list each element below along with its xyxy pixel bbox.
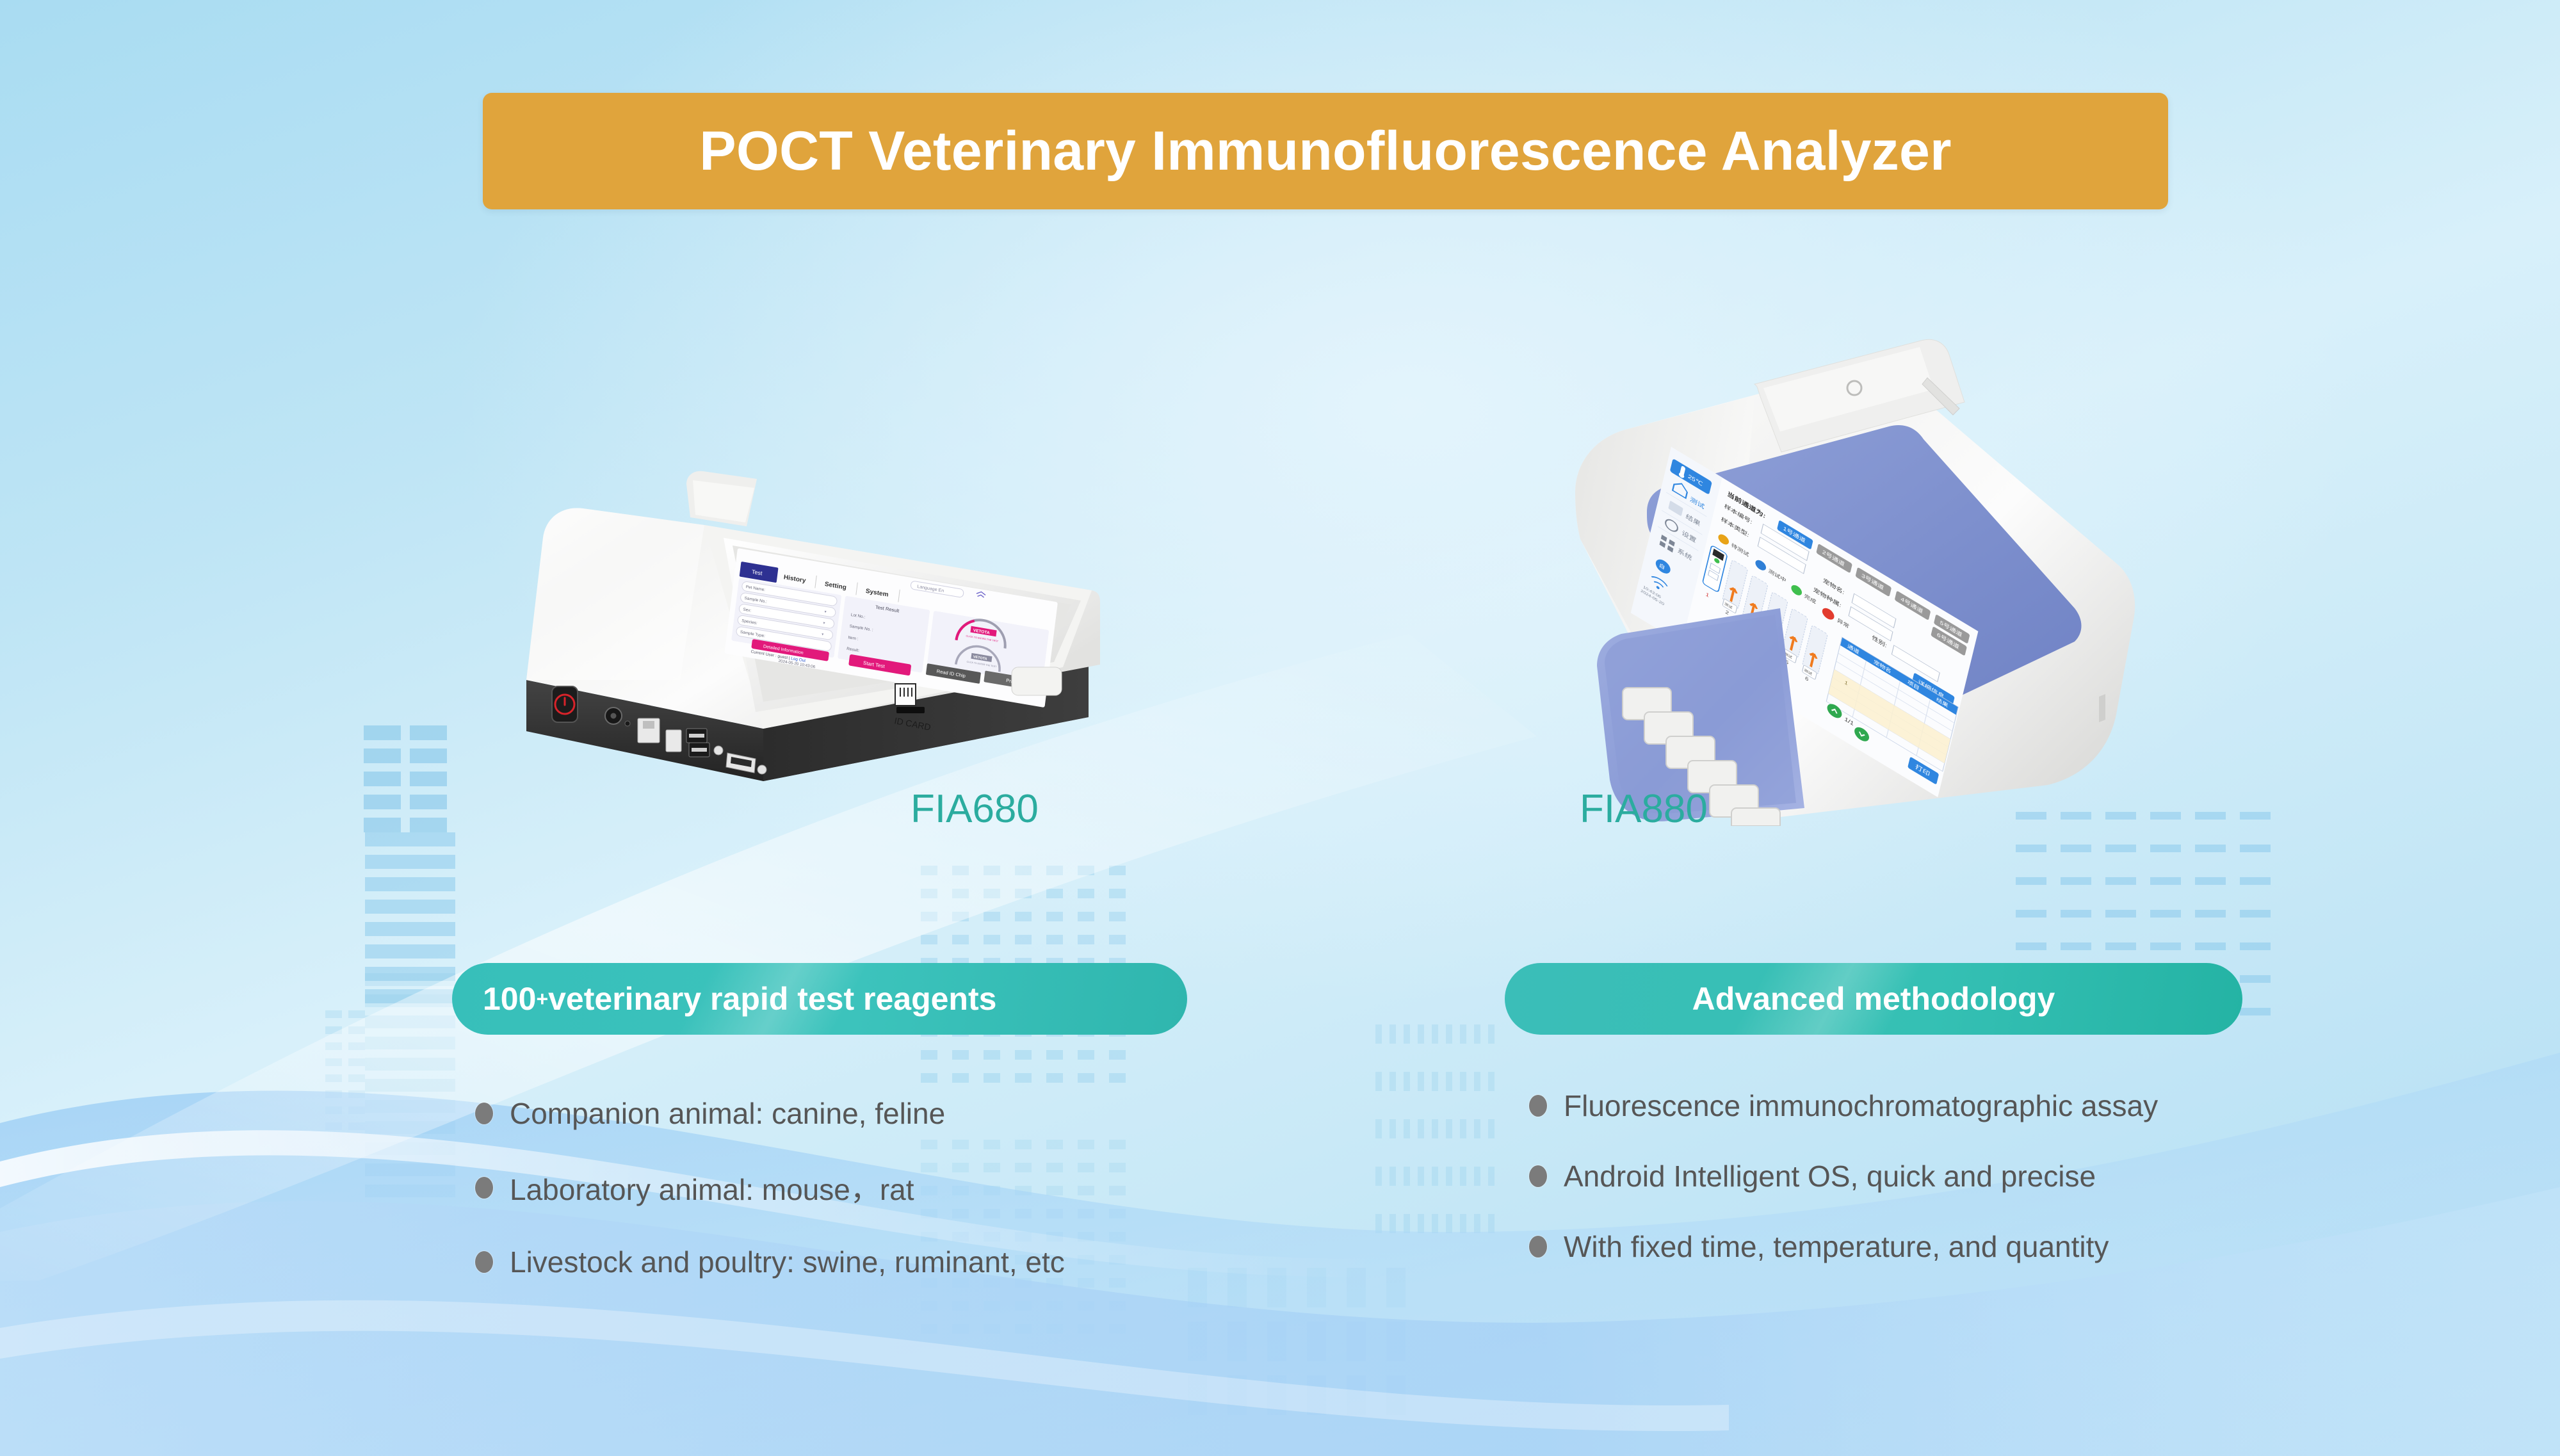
- decor-cell: [365, 855, 455, 869]
- decor-cell: [365, 877, 455, 891]
- decor-row: [365, 900, 455, 914]
- page-title: POCT Veterinary Immunofluorescence Analy…: [699, 120, 1951, 183]
- product-label-fia880: FIA880: [1580, 786, 1708, 832]
- decor-cell: [1046, 912, 1063, 921]
- decor-cell: [364, 795, 401, 809]
- slide-canvas: POCT Veterinary Immunofluorescence Analy…: [0, 0, 2560, 1456]
- decor-cell: [2195, 910, 2226, 918]
- decor-cell: [1015, 912, 1032, 921]
- pill-left-superscript: +: [536, 987, 548, 1011]
- bullet-text: Fluorescence immunochromatographic assay: [1564, 1088, 2158, 1123]
- bullet-dot-icon: [1529, 1095, 1547, 1117]
- decor-row: [364, 795, 447, 809]
- decor-row: [921, 912, 1126, 921]
- bullet-text: Livestock and poultry: swine, ruminant, …: [510, 1245, 1065, 1279]
- decor-cell: [2016, 845, 2046, 852]
- decor-cell: [1046, 889, 1063, 898]
- bullet-text: With fixed time, temperature, and quanti…: [1564, 1229, 2109, 1264]
- decor-cell: [2105, 845, 2136, 852]
- bullet-dot-icon: [1529, 1165, 1547, 1187]
- pill-left-count: 100: [483, 980, 536, 1017]
- decor-cell: [410, 772, 447, 786]
- decor-cell: [2105, 877, 2136, 885]
- decor-row: [921, 889, 1126, 898]
- decor-cell: [1015, 866, 1032, 875]
- decor-cell: [2150, 877, 2181, 885]
- list-item: Laboratory animal: mouse，rat: [475, 1167, 1065, 1209]
- decor-cell: [2240, 877, 2271, 885]
- decor-cell: [1109, 912, 1126, 921]
- list-item: With fixed time, temperature, and quanti…: [1529, 1229, 2158, 1264]
- bullet-list-left: Companion animal: canine, feline Laborat…: [475, 1096, 1065, 1315]
- decor-block-pattern-left-top: [364, 725, 447, 841]
- bullet-text: Companion animal: canine, feline: [510, 1096, 945, 1131]
- decor-row: [364, 725, 447, 740]
- decor-cell: [1109, 889, 1126, 898]
- decor-cell: [921, 889, 937, 898]
- decor-cell: [2150, 910, 2181, 918]
- decor-cell: [2016, 877, 2046, 885]
- decor-cell: [1078, 912, 1094, 921]
- product-label-fia680: FIA680: [911, 786, 1039, 832]
- bullet-dot-icon: [1529, 1236, 1547, 1258]
- bullet-text: Laboratory animal: mouse，rat: [510, 1167, 914, 1209]
- decor-row: [364, 772, 447, 786]
- decor-cell: [2240, 910, 2271, 918]
- decor-cell: [365, 832, 455, 846]
- decor-cell: [2150, 845, 2181, 852]
- bullet-dot-icon: [475, 1251, 493, 1273]
- decor-cell: [984, 889, 1000, 898]
- decor-cell: [2240, 845, 2271, 852]
- decor-cell: [2016, 910, 2046, 918]
- decor-cell: [364, 725, 401, 740]
- decor-cell: [1078, 866, 1094, 875]
- bullet-dot-icon: [475, 1103, 493, 1124]
- decor-cell: [2195, 845, 2226, 852]
- decor-row: [2016, 910, 2271, 918]
- decor-cell: [410, 725, 447, 740]
- decor-cell: [921, 866, 937, 875]
- decor-cell: [952, 889, 969, 898]
- decor-row: [364, 748, 447, 763]
- decor-cell: [2061, 877, 2091, 885]
- decor-cell: [2061, 910, 2091, 918]
- decor-row: [2016, 877, 2271, 885]
- bullet-text: Android Intelligent OS, quick and precis…: [1564, 1159, 2096, 1193]
- decor-row: [365, 877, 455, 891]
- decor-cell: [1109, 866, 1126, 875]
- pill-left-text: veterinary rapid test reagents: [548, 980, 996, 1017]
- decor-cell: [921, 912, 937, 921]
- feature-pill-methodology: Advanced methodology: [1505, 963, 2242, 1035]
- pill-right-text: Advanced methodology: [1692, 980, 2055, 1017]
- bullet-list-right: Fluorescence immunochromatographic assay…: [1529, 1088, 2158, 1300]
- list-item: Livestock and poultry: swine, ruminant, …: [475, 1245, 1065, 1279]
- decor-cell: [1078, 889, 1094, 898]
- decor-cell: [410, 748, 447, 763]
- decor-row: [365, 832, 455, 846]
- decor-cell: [364, 818, 401, 832]
- decor-cell: [364, 772, 401, 786]
- decor-cell: [1046, 866, 1063, 875]
- decor-cell: [984, 912, 1000, 921]
- decor-cell: [365, 900, 455, 914]
- device-fia880-image: 25℃ 测试 结果 设置 系统: [1479, 301, 2171, 826]
- decor-row: [2016, 845, 2271, 852]
- decor-cell: [2195, 877, 2226, 885]
- list-item: Companion animal: canine, feline: [475, 1096, 1065, 1131]
- decor-cell: [364, 748, 401, 763]
- decor-cell: [952, 866, 969, 875]
- decor-row: [365, 855, 455, 869]
- device-fia680-image: Language En Test History Setting System …: [512, 442, 1101, 800]
- list-item: Fluorescence immunochromatographic assay: [1529, 1088, 2158, 1123]
- decor-cell: [2105, 910, 2136, 918]
- bullet-dot-icon: [475, 1177, 493, 1199]
- decor-cell: [952, 912, 969, 921]
- decor-cell: [1015, 889, 1032, 898]
- decor-cell: [2195, 812, 2226, 820]
- decor-cell: [410, 818, 447, 832]
- decor-cell: [410, 795, 447, 809]
- decor-cell: [984, 866, 1000, 875]
- title-banner: POCT Veterinary Immunofluorescence Analy…: [483, 93, 2168, 209]
- decor-row: [921, 866, 1126, 875]
- decor-row: [364, 818, 447, 832]
- feature-pill-reagents: 100+ veterinary rapid test reagents: [452, 963, 1187, 1035]
- decor-cell: [2240, 812, 2271, 820]
- list-item: Android Intelligent OS, quick and precis…: [1529, 1159, 2158, 1193]
- decor-cell: [2061, 845, 2091, 852]
